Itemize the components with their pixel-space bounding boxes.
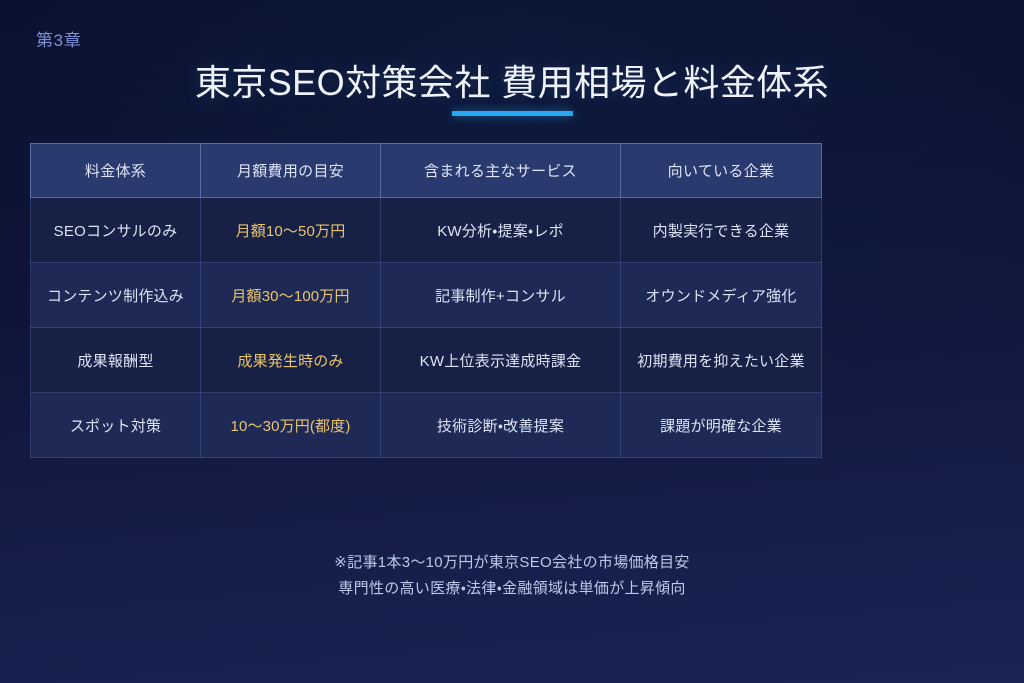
table-row: SEOコンサルのみ 月額10〜50万円 KW分析・提案・レポ 内製実行できる企業 — [31, 198, 822, 263]
cell-target: オウンドメディア強化 — [621, 263, 822, 328]
cell-price: 10〜30万円(都度) — [201, 393, 381, 458]
cell-plan: SEOコンサルのみ — [31, 198, 201, 263]
pricing-table: 料金体系 月額費用の目安 含まれる主なサービス 向いている企業 SEOコンサルの… — [30, 143, 822, 458]
footnotes: ※記事1本3〜10万円が東京SEO会社の市場価格目安 専門性の高い医療・法律・金… — [0, 550, 1024, 602]
cell-services: 技術診断・改善提案 — [381, 393, 621, 458]
cell-price: 月額10〜50万円 — [201, 198, 381, 263]
table-body: SEOコンサルのみ 月額10〜50万円 KW分析・提案・レポ 内製実行できる企業… — [31, 198, 822, 458]
table-row: コンテンツ制作込み 月額30〜100万円 記事制作+コンサル オウンドメディア強… — [31, 263, 822, 328]
footnote-line-1: ※記事1本3〜10万円が東京SEO会社の市場価格目安 — [0, 550, 1024, 576]
cell-plan: スポット対策 — [31, 393, 201, 458]
cell-target: 内製実行できる企業 — [621, 198, 822, 263]
cell-price: 成果発生時のみ — [201, 328, 381, 393]
cell-price: 月額30〜100万円 — [201, 263, 381, 328]
chapter-label: 第3章 — [36, 26, 82, 51]
table-header-row: 料金体系 月額費用の目安 含まれる主なサービス 向いている企業 — [31, 144, 822, 198]
slide-canvas: 第3章 東京SEO対策会社 費用相場と料金体系 料金体系 月額費用の目安 含まれ… — [0, 0, 1024, 683]
cell-plan: 成果報酬型 — [31, 328, 201, 393]
column-header-price: 月額費用の目安 — [201, 144, 381, 198]
cell-services: 記事制作+コンサル — [381, 263, 621, 328]
table-header: 料金体系 月額費用の目安 含まれる主なサービス 向いている企業 — [31, 144, 822, 198]
table-row: スポット対策 10〜30万円(都度) 技術診断・改善提案 課題が明確な企業 — [31, 393, 822, 458]
column-header-plan: 料金体系 — [31, 144, 201, 198]
cell-target: 課題が明確な企業 — [621, 393, 822, 458]
title-container: 東京SEO対策会社 費用相場と料金体系 — [0, 62, 1024, 104]
footnote-line-2: 専門性の高い医療・法律・金融領域は単価が上昇傾向 — [0, 576, 1024, 602]
page-title: 東京SEO対策会社 費用相場と料金体系 — [195, 62, 829, 104]
cell-plan: コンテンツ制作込み — [31, 263, 201, 328]
column-header-services: 含まれる主なサービス — [381, 144, 621, 198]
table-row: 成果報酬型 成果発生時のみ KW上位表示達成時課金 初期費用を抑えたい企業 — [31, 328, 822, 393]
cell-services: KW上位表示達成時課金 — [381, 328, 621, 393]
cell-target: 初期費用を抑えたい企業 — [621, 328, 822, 393]
cell-services: KW分析・提案・レポ — [381, 198, 621, 263]
title-accent-bar — [452, 111, 573, 116]
column-header-target: 向いている企業 — [621, 144, 822, 198]
